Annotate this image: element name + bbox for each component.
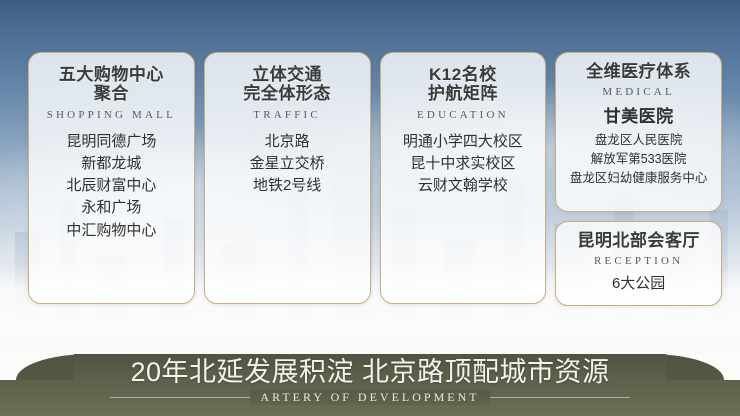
bottom-banner: 20年北延发展积淀 北京路顶配城市资源 ARTERY OF DEVELOPMEN… <box>0 354 740 416</box>
list-item: 昆明同德广场 <box>35 131 188 153</box>
list-item: 北京路 <box>211 131 364 153</box>
card-medical-items: 甘美医院 盘龙区人民医院 解放军第533医院 盘龙区妇幼健康服务中心 <box>561 104 716 188</box>
card-reception-subtitle: RECEPTION <box>561 255 716 267</box>
banner-subtitle: ARTERY OF DEVELOPMENT <box>250 390 489 405</box>
card-education-subtitle: EDUCATION <box>387 109 540 121</box>
card-traffic-title: 立体交通 完全体形态 <box>211 65 364 104</box>
card-traffic[interactable]: 立体交通 完全体形态 TRAFFIC 北京路 金星立交桥 地铁2号线 <box>204 52 371 304</box>
card-medical-title: 全维医疗体系 <box>561 62 716 81</box>
card-reception-title: 昆明北部会客厅 <box>561 231 716 250</box>
card-shopping-items: 昆明同德广场 新都龙城 北辰财富中心 永和广场 中汇购物中心 <box>35 131 188 242</box>
column-shopping: 五大购物中心 聚合 SHOPPING MALL 昆明同德广场 新都龙城 北辰财富… <box>28 52 195 304</box>
card-traffic-subtitle: TRAFFIC <box>211 109 364 121</box>
medical-lead-item: 甘美医院 <box>561 104 716 131</box>
card-reception[interactable]: 昆明北部会客厅 RECEPTION 6大公园 <box>555 221 722 306</box>
column-education: K12名校 护航矩阵 EDUCATION 明通小学四大校区 昆十中求实校区 云财… <box>380 52 547 304</box>
column-traffic: 立体交通 完全体形态 TRAFFIC 北京路 金星立交桥 地铁2号线 <box>204 52 371 304</box>
list-item: 中汇购物中心 <box>35 220 188 242</box>
card-education-title: K12名校 护航矩阵 <box>387 65 540 104</box>
card-education[interactable]: K12名校 护航矩阵 EDUCATION 明通小学四大校区 昆十中求实校区 云财… <box>380 52 547 304</box>
banner-title: 20年北延发展积淀 北京路顶配城市资源 <box>130 358 609 387</box>
list-item: 昆十中求实校区 <box>387 153 540 175</box>
card-medical[interactable]: 全维医疗体系 MEDICAL 甘美医院 盘龙区人民医院 解放军第533医院 盘龙… <box>555 52 722 212</box>
card-medical-subtitle: MEDICAL <box>561 86 716 98</box>
list-item: 明通小学四大校区 <box>387 131 540 153</box>
list-item: 新都龙城 <box>35 153 188 175</box>
list-item: 6大公园 <box>561 273 716 295</box>
list-item: 解放军第533医院 <box>561 150 716 169</box>
feature-panel-grid: 五大购物中心 聚合 SHOPPING MALL 昆明同德广场 新都龙城 北辰财富… <box>28 52 722 304</box>
poster-root: 五大购物中心 聚合 SHOPPING MALL 昆明同德广场 新都龙城 北辰财富… <box>0 0 740 416</box>
card-reception-items: 6大公园 <box>561 273 716 295</box>
list-item: 北辰财富中心 <box>35 175 188 197</box>
banner-subtitle-row: ARTERY OF DEVELOPMENT <box>110 388 630 406</box>
list-item: 永和广场 <box>35 197 188 219</box>
column-medical-reception: 全维医疗体系 MEDICAL 甘美医院 盘龙区人民医院 解放军第533医院 盘龙… <box>555 52 722 304</box>
card-shopping[interactable]: 五大购物中心 聚合 SHOPPING MALL 昆明同德广场 新都龙城 北辰财富… <box>28 52 195 304</box>
card-education-items: 明通小学四大校区 昆十中求实校区 云财文翰学校 <box>387 131 540 198</box>
list-item: 云财文翰学校 <box>387 175 540 197</box>
list-item: 地铁2号线 <box>211 175 364 197</box>
banner-content: 20年北延发展积淀 北京路顶配城市资源 ARTERY OF DEVELOPMEN… <box>0 354 740 416</box>
list-item: 盘龙区人民医院 <box>561 131 716 150</box>
card-shopping-subtitle: SHOPPING MALL <box>35 109 188 121</box>
card-traffic-items: 北京路 金星立交桥 地铁2号线 <box>211 131 364 198</box>
list-item: 盘龙区妇幼健康服务中心 <box>561 169 716 188</box>
list-item: 金星立交桥 <box>211 153 364 175</box>
card-shopping-title: 五大购物中心 聚合 <box>35 65 188 104</box>
